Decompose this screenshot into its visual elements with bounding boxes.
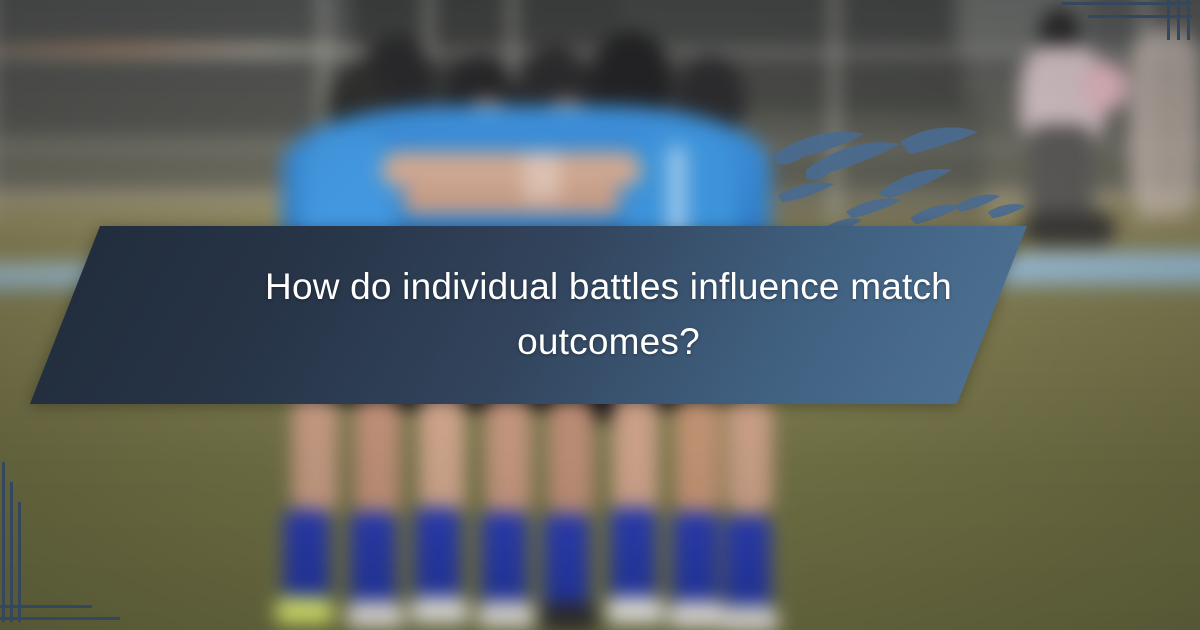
photo-shoe (669, 601, 727, 628)
photo-shoe (346, 601, 404, 628)
title-banner: How do individual battles influence matc… (30, 226, 1027, 404)
photo-shoe (276, 597, 334, 624)
fence-post (831, 0, 838, 225)
photo-shoe (606, 597, 664, 624)
photo-shoe (540, 603, 598, 630)
photo-shoe (477, 601, 535, 628)
photo-spectator (1016, 8, 1130, 216)
title-banner-inner: How do individual battles influence matc… (100, 226, 1027, 404)
photo-spectator-2 (1128, 29, 1200, 216)
photo-shoe (411, 597, 469, 624)
page-title: How do individual battles influence matc… (229, 260, 989, 370)
photo-shoe (721, 605, 779, 630)
social-card: How do individual battles influence matc… (0, 0, 1200, 630)
